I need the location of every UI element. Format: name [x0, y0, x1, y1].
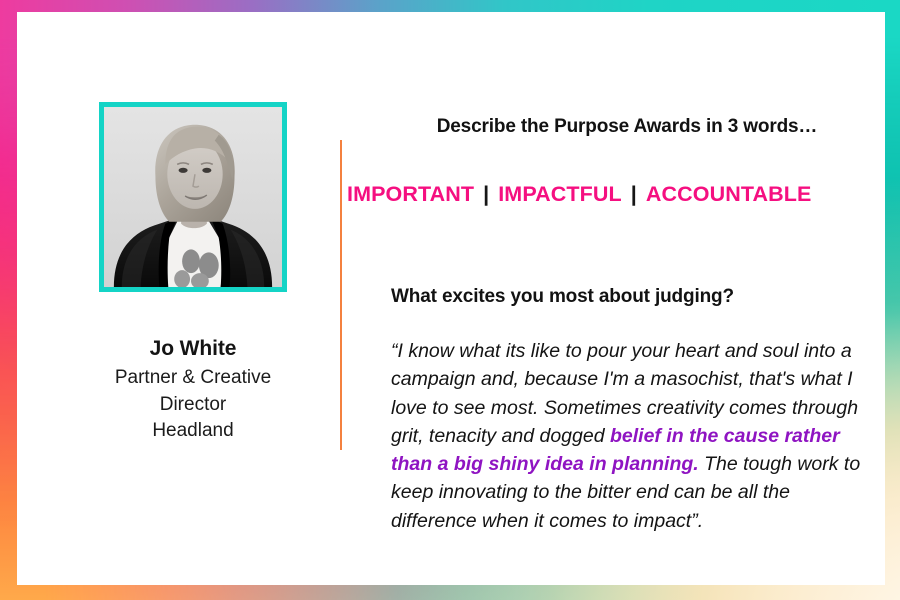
person-role-line-1: Partner & Creative	[75, 365, 311, 390]
portrait-photo-frame	[99, 102, 287, 292]
person-organisation: Headland	[75, 418, 311, 443]
quote-text: “I know what its like to pour your heart…	[391, 337, 869, 535]
vertical-divider	[340, 140, 342, 450]
three-words-separator-2: |	[622, 182, 646, 206]
three-words-answer: IMPORTANT|IMPACTFUL|ACCOUNTABLE	[347, 182, 892, 207]
profile-column: Jo White Partner & Creative Director Hea…	[75, 102, 311, 443]
profile-card: Jo White Partner & Creative Director Hea…	[0, 0, 900, 600]
person-name: Jo White	[75, 335, 311, 363]
three-words-word-1: IMPORTANT	[347, 182, 474, 206]
three-words-separator-1: |	[474, 182, 498, 206]
person-role-line-2: Director	[75, 392, 311, 417]
portrait-photo	[104, 107, 282, 287]
three-words-word-3: ACCOUNTABLE	[646, 182, 812, 206]
three-words-word-2: IMPACTFUL	[498, 182, 622, 206]
question-1-heading: Describe the Purpose Awards in 3 words…	[377, 116, 877, 138]
content-panel: Jo White Partner & Creative Director Hea…	[17, 12, 885, 585]
question-2-heading: What excites you most about judging?	[391, 286, 891, 308]
